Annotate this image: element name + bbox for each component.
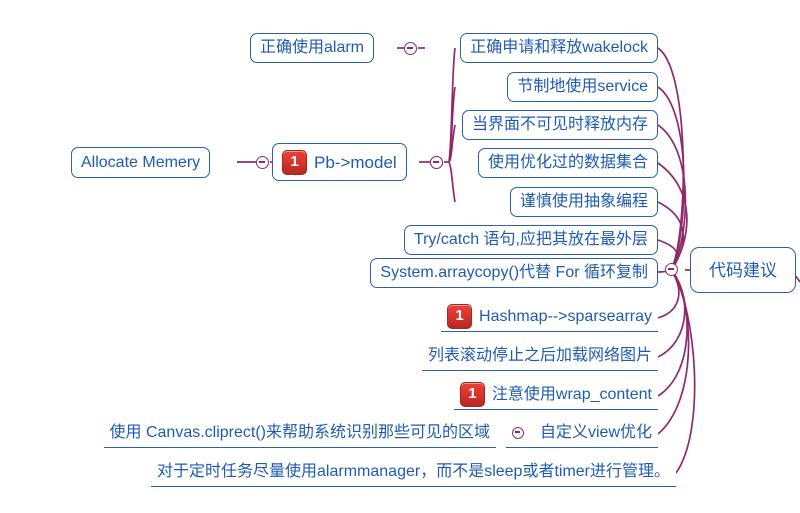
node-central-code-suggestions[interactable]: 代码建议: [690, 247, 796, 293]
collapse-toggle-dataset[interactable]: [430, 156, 443, 169]
node-label: 注意使用wrap_content: [492, 387, 652, 403]
node-label: 对于定时任务尽量使用alarmmanager，而不是sleep或者timer进行…: [157, 464, 670, 480]
node-label: 代码建议: [709, 262, 777, 279]
node-trycatch[interactable]: Try/catch 语句,应把其放在最外层: [404, 225, 658, 255]
node-sparsearray[interactable]: 1 Hashmap-->sparsearray: [441, 303, 658, 332]
node-label: Pb->model: [314, 154, 397, 171]
node-label: 正确申请和释放wakelock: [470, 40, 648, 56]
node-label: 使用优化过的数据集合: [488, 155, 648, 171]
collapse-toggle-allocate-memery[interactable]: [256, 156, 269, 169]
mindmap-canvas: Allocate Memery 1 Pb->model 正确使用alarm 正确…: [0, 0, 800, 513]
node-label: Try/catch 语句,应把其放在最外层: [414, 232, 648, 248]
node-label: 列表滚动停止之后加载网络图片: [428, 348, 652, 364]
node-alarm[interactable]: 正确使用alarm: [250, 33, 374, 63]
node-optimized-dataset[interactable]: 使用优化过的数据集合: [478, 148, 658, 178]
node-label: 正确使用alarm: [260, 40, 364, 56]
node-release-memory[interactable]: 当界面不可见时释放内存: [462, 110, 658, 140]
node-label: Hashmap-->sparsearray: [479, 309, 652, 325]
node-allocate-memery[interactable]: Allocate Memery: [71, 147, 210, 178]
collapse-toggle-alarm[interactable]: [404, 42, 417, 55]
node-arraycopy[interactable]: System.arraycopy()代替 For 循环复制: [370, 258, 658, 288]
node-label: Allocate Memery: [81, 155, 200, 171]
node-label: 节制地使用service: [517, 79, 648, 95]
node-canvas-cliprect[interactable]: 使用 Canvas.cliprect()来帮助系统识别那些可见的区域: [104, 419, 496, 448]
node-abstract-programming[interactable]: 谨慎使用抽象编程: [510, 187, 658, 217]
node-label: 使用 Canvas.cliprect()来帮助系统识别那些可见的区域: [110, 425, 490, 441]
node-pb-model[interactable]: 1 Pb->model: [272, 143, 407, 181]
node-label: 当界面不可见时释放内存: [472, 117, 648, 133]
collapse-toggle-custom-view[interactable]: [512, 427, 524, 439]
collapse-toggle-central[interactable]: [665, 263, 678, 276]
node-label: 谨慎使用抽象编程: [520, 194, 648, 210]
node-wakelock[interactable]: 正确申请和释放wakelock: [460, 33, 658, 63]
priority-badge: 1: [447, 304, 472, 329]
node-custom-view-optimize[interactable]: 自定义view优化: [506, 419, 658, 448]
node-service[interactable]: 节制地使用service: [507, 72, 658, 102]
node-alarmmanager[interactable]: 对于定时任务尽量使用alarmmanager，而不是sleep或者timer进行…: [151, 458, 676, 487]
node-label: 自定义view优化: [540, 425, 652, 441]
node-network-image-load[interactable]: 列表滚动停止之后加载网络图片: [422, 342, 658, 371]
priority-badge: 1: [460, 382, 485, 407]
priority-badge: 1: [282, 150, 307, 175]
node-wrap-content[interactable]: 1 注意使用wrap_content: [454, 381, 658, 410]
node-label: System.arraycopy()代替 For 循环复制: [380, 265, 648, 281]
